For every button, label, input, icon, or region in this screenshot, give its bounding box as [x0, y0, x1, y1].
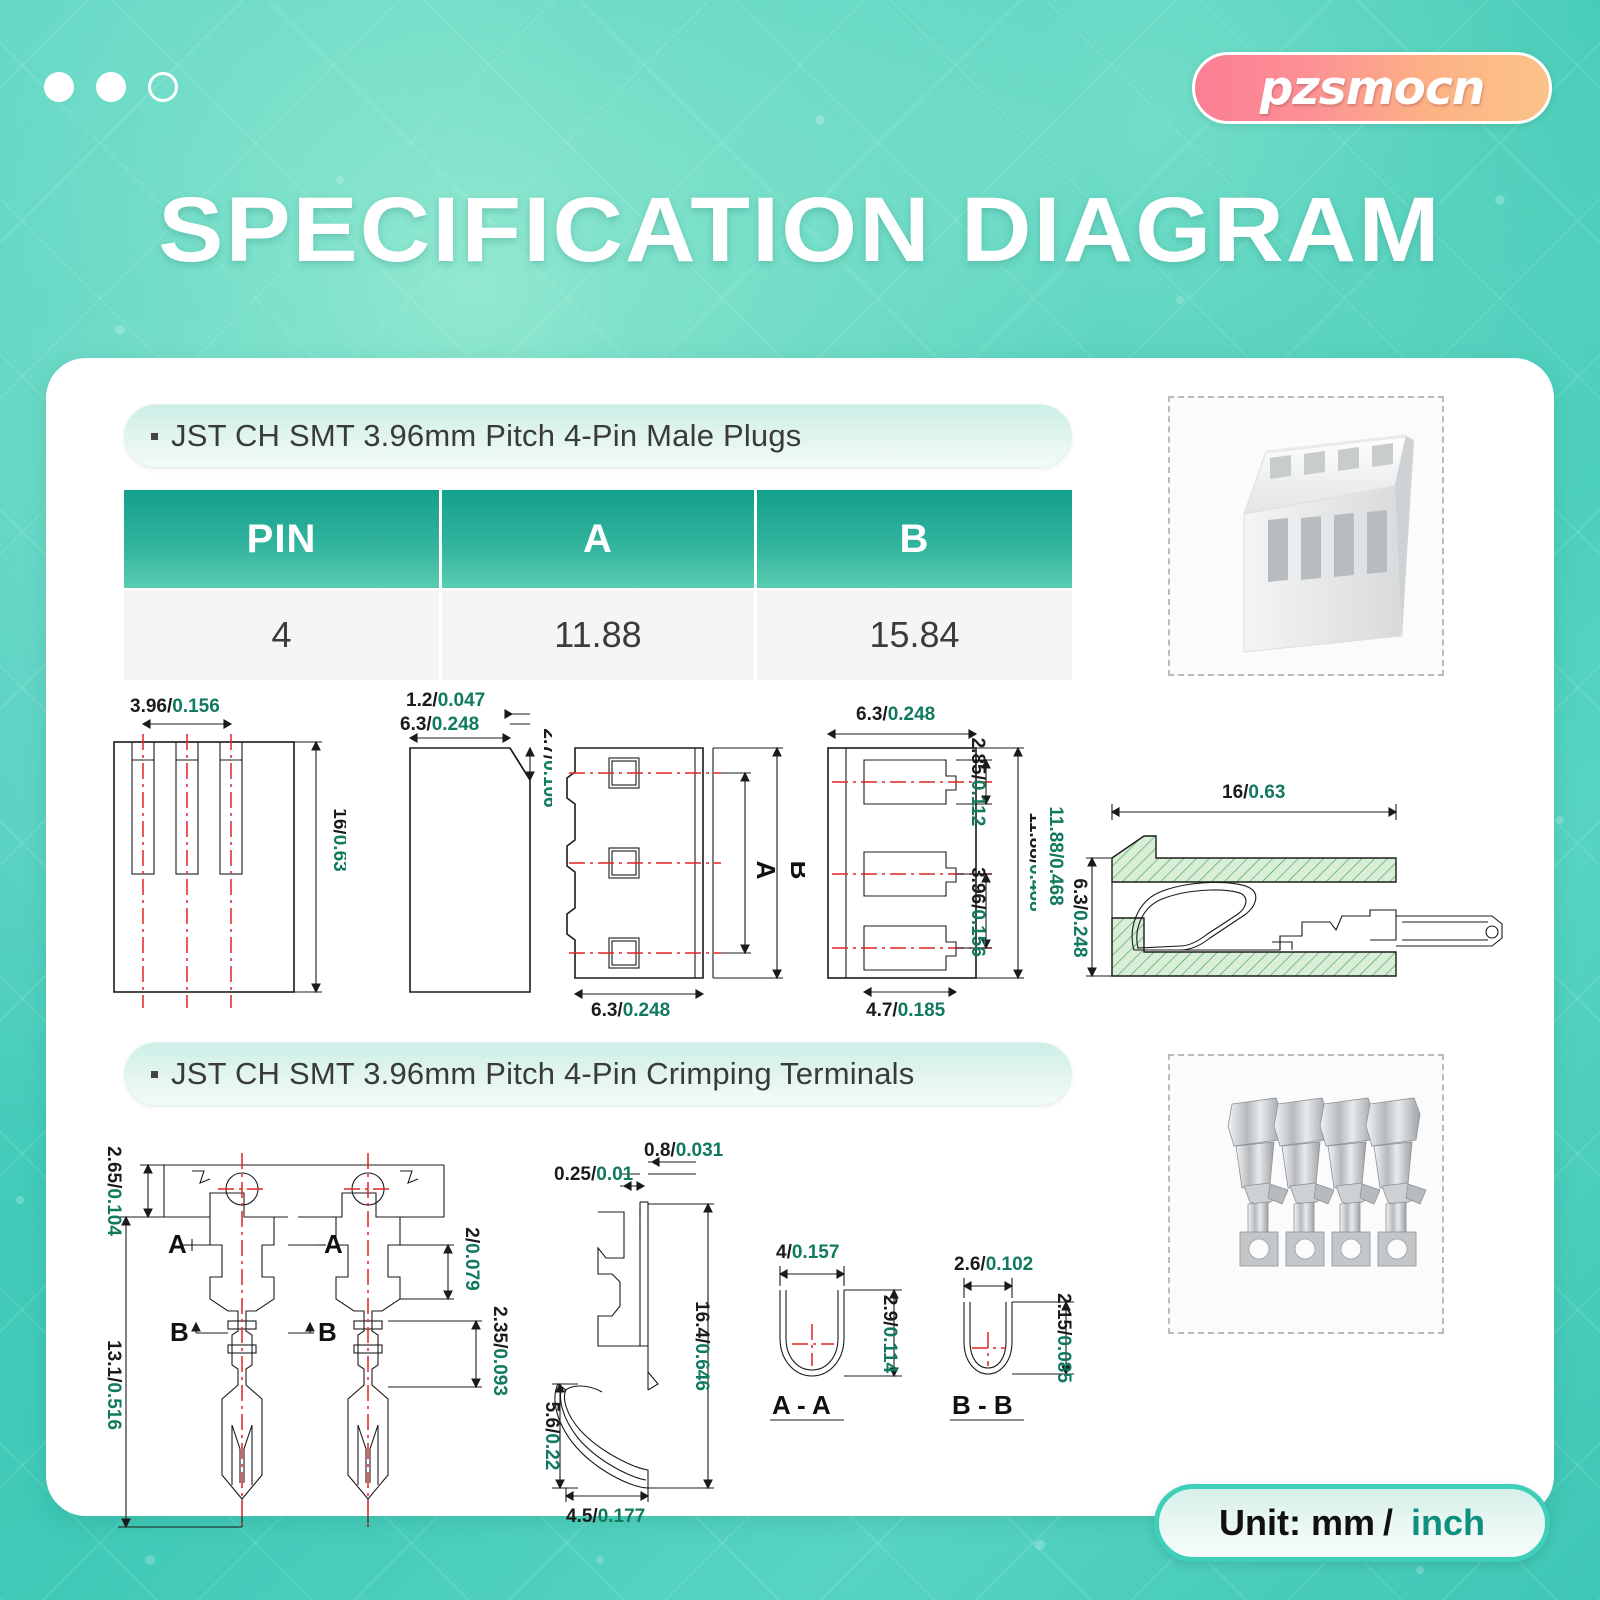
svg-text:11.88/0.468: 11.88/0.468	[1025, 812, 1036, 911]
section-label: JST CH SMT 3.96mm Pitch 4-Pin Male Plugs	[171, 418, 802, 454]
window-dots	[44, 72, 178, 102]
drawing-plug-top-view: A B 6.3/0.248	[545, 690, 805, 1020]
cell-a: 11.88	[442, 588, 757, 680]
section-mark-a-left: A	[168, 1229, 187, 1259]
section-title-aa: A - A	[772, 1390, 831, 1420]
drawing-plug-bottom-view: 6.3/0.248 2.85/0.112 3.96/0.156 11.88/0.…	[806, 690, 1036, 1020]
svg-text:2/0.079: 2/0.079	[461, 1227, 482, 1290]
svg-text:6.3/0.248: 6.3/0.248	[856, 704, 935, 725]
svg-text:2.85/0.112: 2.85/0.112	[967, 738, 988, 827]
section-mark-b-right: B	[318, 1317, 337, 1347]
drawing-terminal-front-view: A A B B 2.65/0.104 13.1/0.516	[92, 1135, 522, 1535]
spec-table: PIN A B 4 11.88 15.84	[124, 490, 1072, 680]
svg-text:0.8/0.031: 0.8/0.031	[644, 1140, 724, 1161]
svg-text:16.4/0.646: 16.4/0.646	[691, 1301, 712, 1391]
svg-text:2.65/0.104: 2.65/0.104	[103, 1146, 124, 1236]
svg-text:6.3/0.248: 6.3/0.248	[400, 714, 479, 735]
label-b: B	[785, 861, 805, 880]
svg-text:4.5/0.177: 4.5/0.177	[566, 1506, 645, 1527]
unit-mm: mm	[1311, 1502, 1375, 1544]
column-header-pin: PIN	[124, 490, 442, 588]
brand-logo-text: pzsmocn	[1260, 61, 1485, 116]
dim-pitch-mm: 3.96/	[130, 696, 173, 717]
svg-text:13.1/0.516: 13.1/0.516	[103, 1340, 124, 1430]
svg-text:4.7/0.185: 4.7/0.185	[866, 1000, 946, 1020]
drawing-plug-cross-section: 16/0.63 6.3/0.248 11.88/0.468	[1040, 760, 1510, 1010]
drawing-section-a-a: 4/0.157 2.9/0.114 A - A	[752, 1230, 952, 1430]
page-title: SPECIFICATION DIAGRAM	[0, 178, 1600, 283]
svg-text:2.15/0.085: 2.15/0.085	[1053, 1293, 1074, 1383]
cell-pin: 4	[124, 588, 442, 680]
brand-logo: pzsmocn	[1192, 52, 1552, 124]
section-title-bb: B - B	[952, 1390, 1013, 1420]
column-header-b: B	[757, 490, 1072, 588]
svg-text:3.96/0.156: 3.96/0.156	[130, 696, 220, 717]
section-mark-a-right: A	[324, 1229, 343, 1259]
section-header-crimping-terminals: JST CH SMT 3.96mm Pitch 4-Pin Crimping T…	[124, 1042, 1072, 1106]
section-header-male-plugs: JST CH SMT 3.96mm Pitch 4-Pin Male Plugs	[124, 404, 1072, 468]
label-a: A	[751, 861, 781, 880]
unit-slash: /	[1383, 1502, 1393, 1544]
bullet-icon	[151, 433, 158, 440]
svg-text:6.3/0.248: 6.3/0.248	[1069, 878, 1090, 957]
svg-text:4/0.157: 4/0.157	[776, 1242, 839, 1263]
drawing-section-b-b: 2.6/0.102 2.15/0.085 B - B	[930, 1250, 1130, 1440]
window-dot-2	[96, 72, 126, 102]
table-header-row: PIN A B	[124, 490, 1072, 588]
svg-text:3.96/0.156: 3.96/0.156	[967, 867, 988, 957]
unit-prefix: Unit:	[1219, 1502, 1301, 1544]
crimping-terminals-photo	[1168, 1054, 1444, 1334]
dim-pitch-in: 0.156	[172, 696, 220, 717]
svg-text:11.88/0.468: 11.88/0.468	[1045, 806, 1066, 905]
svg-text:0.25/0.01: 0.25/0.01	[554, 1164, 634, 1185]
svg-text:6.3/0.248: 6.3/0.248	[591, 1000, 670, 1020]
svg-text:16/0.63: 16/0.63	[329, 808, 346, 871]
unit-badge: Unit: mm / inch	[1154, 1484, 1550, 1562]
section-label: JST CH SMT 3.96mm Pitch 4-Pin Crimping T…	[171, 1056, 914, 1092]
table-row: 4 11.88 15.84	[124, 588, 1072, 680]
window-dot-3	[148, 72, 178, 102]
svg-text:1.2/0.047: 1.2/0.047	[406, 690, 485, 711]
bullet-icon	[151, 1071, 158, 1078]
drawing-plug-side-view: 1.2/0.047 6.3/0.248 2.7/0.106	[392, 690, 552, 1020]
unit-inch: inch	[1411, 1502, 1485, 1544]
svg-text:5.6/0.22: 5.6/0.22	[541, 1402, 562, 1471]
section-mark-b-left: B	[170, 1317, 189, 1347]
svg-text:2.6/0.102: 2.6/0.102	[954, 1254, 1033, 1275]
svg-text:16/0.63: 16/0.63	[1222, 782, 1285, 803]
drawing-plug-front-view: 3.96/0.156 16/0.63	[96, 690, 346, 1020]
male-plug-housing-photo	[1168, 396, 1444, 676]
cell-b: 15.84	[757, 588, 1072, 680]
drawing-terminal-side-view: 0.25/0.01 0.8/0.031 16.4/0.646 5.6/0.22 …	[536, 1140, 766, 1530]
column-header-a: A	[442, 490, 757, 588]
window-dot-1	[44, 72, 74, 102]
svg-text:2.9/0.114: 2.9/0.114	[879, 1295, 900, 1374]
svg-text:2.35/0.093: 2.35/0.093	[489, 1306, 510, 1396]
